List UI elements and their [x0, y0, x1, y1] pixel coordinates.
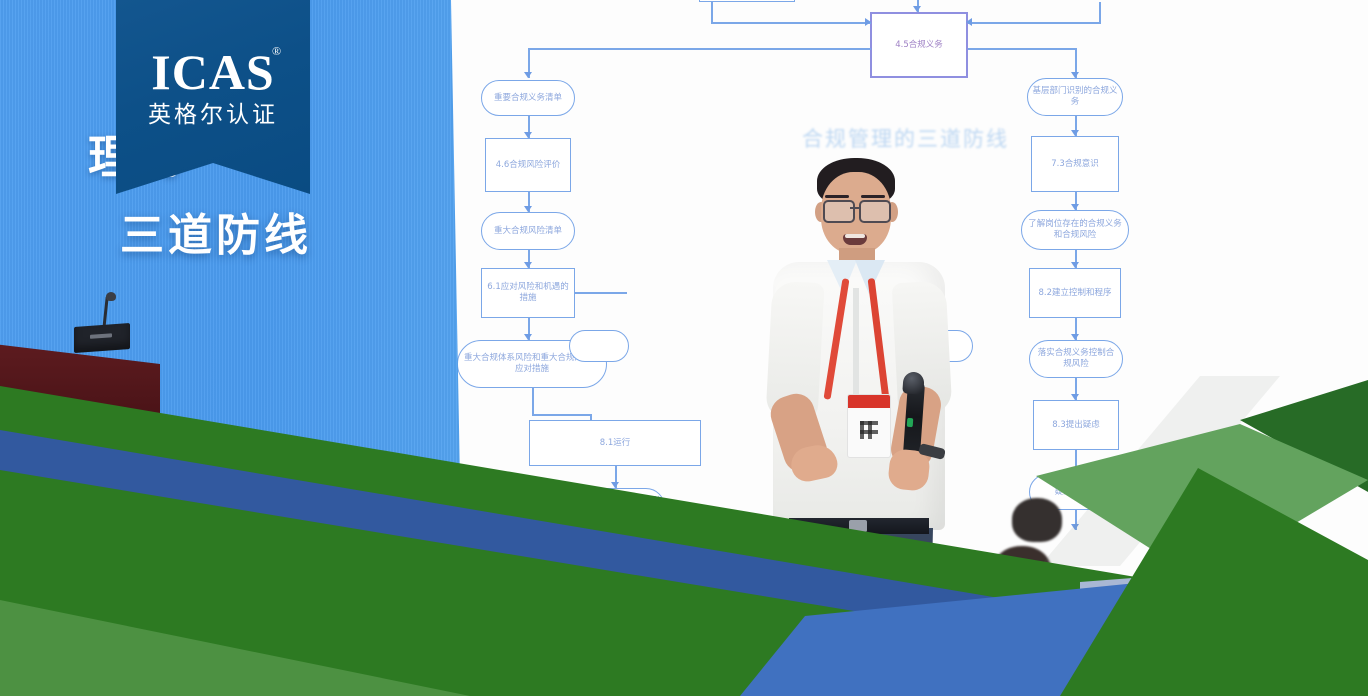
screenshot-stage: 4.5合规义务 重要合规义务清单 4.6合规风险评价 重大合规风险清单 6.1应… [0, 0, 1368, 696]
audience-head-4 [1012, 498, 1062, 542]
